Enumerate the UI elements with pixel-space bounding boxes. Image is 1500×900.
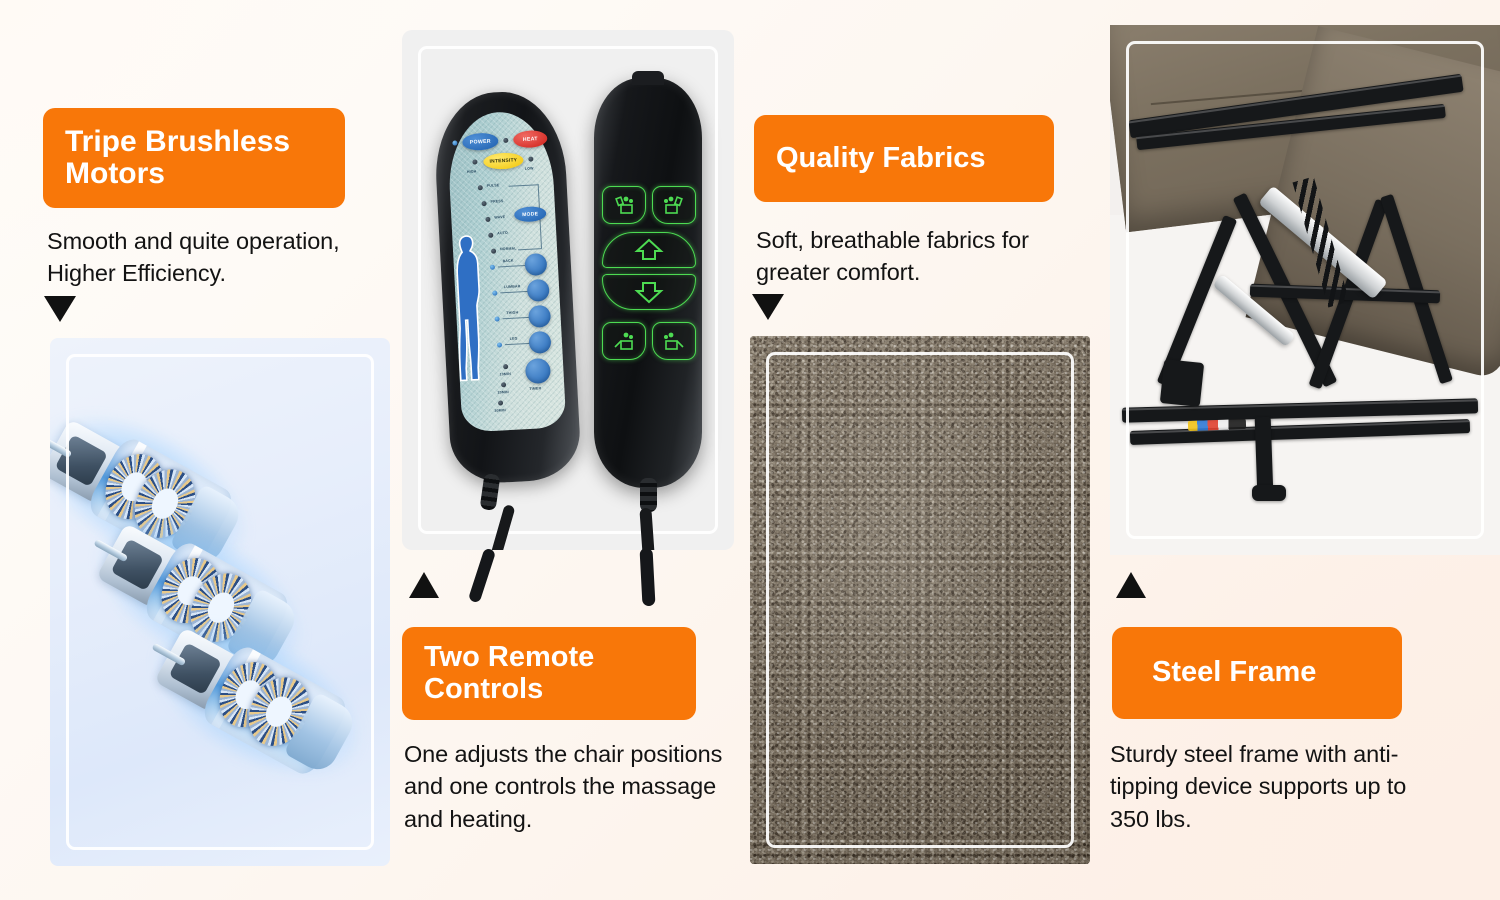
mode-label-press: PRESS	[490, 199, 503, 204]
pointer-up-triangle-steel-frame	[1116, 572, 1146, 598]
mode-label: MODE	[522, 211, 538, 218]
feature-description-two-remote-controls: One adjusts the chair positions and one …	[404, 738, 744, 835]
feature-description-tripe-brushless-motors: Smooth and quite operation, Higher Effic…	[47, 225, 392, 290]
lift-up-arrow-icon[interactable]	[602, 232, 696, 268]
timer-label-20min: 20MIN	[497, 390, 509, 395]
pointer-down-triangle-motors	[44, 296, 76, 322]
frame-base-foot	[1252, 485, 1286, 501]
feature-badge-tripe-brushless-motors: Tripe Brushless Motors	[43, 108, 345, 208]
massage-remote: POWER HEAT HIGH INTENSITY LOW PULSE PRES…	[432, 89, 582, 485]
two-remotes-photo: POWER HEAT HIGH INTENSITY LOW PULSE PRES…	[402, 30, 734, 550]
chair-legrest-glyph	[662, 331, 686, 351]
fabric-swatch-photo	[750, 336, 1090, 864]
timer-label-30min: 30MIN	[494, 408, 506, 413]
position-remote-cable-extension	[639, 548, 655, 607]
power-label: POWER	[470, 138, 491, 145]
fabric-lighting-overlay	[750, 336, 1090, 864]
massage-remote-cable-extension	[468, 547, 496, 603]
zone-label-lumbar: LUMBAR	[504, 284, 521, 289]
frame-base-leg	[1255, 417, 1274, 496]
badge-label: Quality Fabrics	[776, 143, 986, 174]
position-remote-top-nub	[632, 71, 664, 85]
anti-tipping-bracket	[1160, 359, 1204, 407]
chair-footrest-glyph	[662, 195, 686, 215]
feature-infographic-page: Tripe Brushless Motors Smooth and quite …	[0, 0, 1500, 900]
massage-remote-strain-relief	[480, 473, 501, 511]
feature-description-quality-fabrics: Soft, breathable fabrics for greater com…	[756, 224, 1086, 289]
chair-backrest-glyph	[612, 331, 636, 351]
position-remote-strain-relief	[640, 478, 657, 512]
mode-label-wave: WAVE	[494, 215, 505, 220]
timer-label-10min: 10MIN	[499, 372, 511, 377]
position-remote	[594, 78, 702, 488]
up-arrow-glyph	[632, 238, 666, 262]
massage-remote-cable	[483, 504, 515, 550]
badge-label: Steel Frame	[1152, 657, 1316, 688]
mode-label-auto: AUTO	[497, 231, 508, 236]
intensity-label: INTENSITY	[489, 158, 517, 164]
intensity-low-label: LOW	[525, 166, 534, 170]
down-arrow-glyph	[632, 280, 666, 304]
intensity-high-label: HIGH	[467, 169, 477, 173]
motor-unit-3	[148, 611, 368, 788]
steel-frame-photo	[1110, 25, 1500, 555]
lower-down-arrow-icon[interactable]	[602, 274, 696, 310]
feature-badge-steel-frame: Steel Frame	[1112, 627, 1402, 719]
feature-badge-quality-fabrics: Quality Fabrics	[754, 115, 1054, 202]
zone-label-back: BACK	[503, 259, 514, 264]
legrest-extend-icon[interactable]	[652, 322, 696, 360]
backrest-recline-icon[interactable]	[602, 322, 646, 360]
safety-sticker	[1188, 419, 1246, 431]
badge-label: Two Remote Controls	[424, 642, 594, 705]
feature-badge-two-remote-controls: Two Remote Controls	[402, 627, 696, 720]
pointer-down-triangle-fabric	[752, 294, 784, 320]
zone-label-leg: LEG	[510, 337, 518, 341]
pointer-up-triangle-remotes	[409, 572, 439, 598]
mode-label-pulse: PULSE	[487, 183, 500, 188]
position-remote-cable	[639, 508, 656, 550]
chair-headrest-glyph	[612, 195, 636, 215]
headrest-recline-icon[interactable]	[602, 186, 646, 224]
zone-label-thigh: THIGH	[506, 310, 518, 315]
footrest-raise-icon[interactable]	[652, 186, 696, 224]
timer-label: TIMER	[529, 386, 541, 391]
heat-label: HEAT	[523, 136, 538, 143]
badge-label: Tripe Brushless Motors	[65, 126, 290, 191]
brushless-motors-photo	[50, 338, 390, 866]
feature-description-steel-frame: Sturdy steel frame with anti- tipping de…	[1110, 738, 1460, 835]
